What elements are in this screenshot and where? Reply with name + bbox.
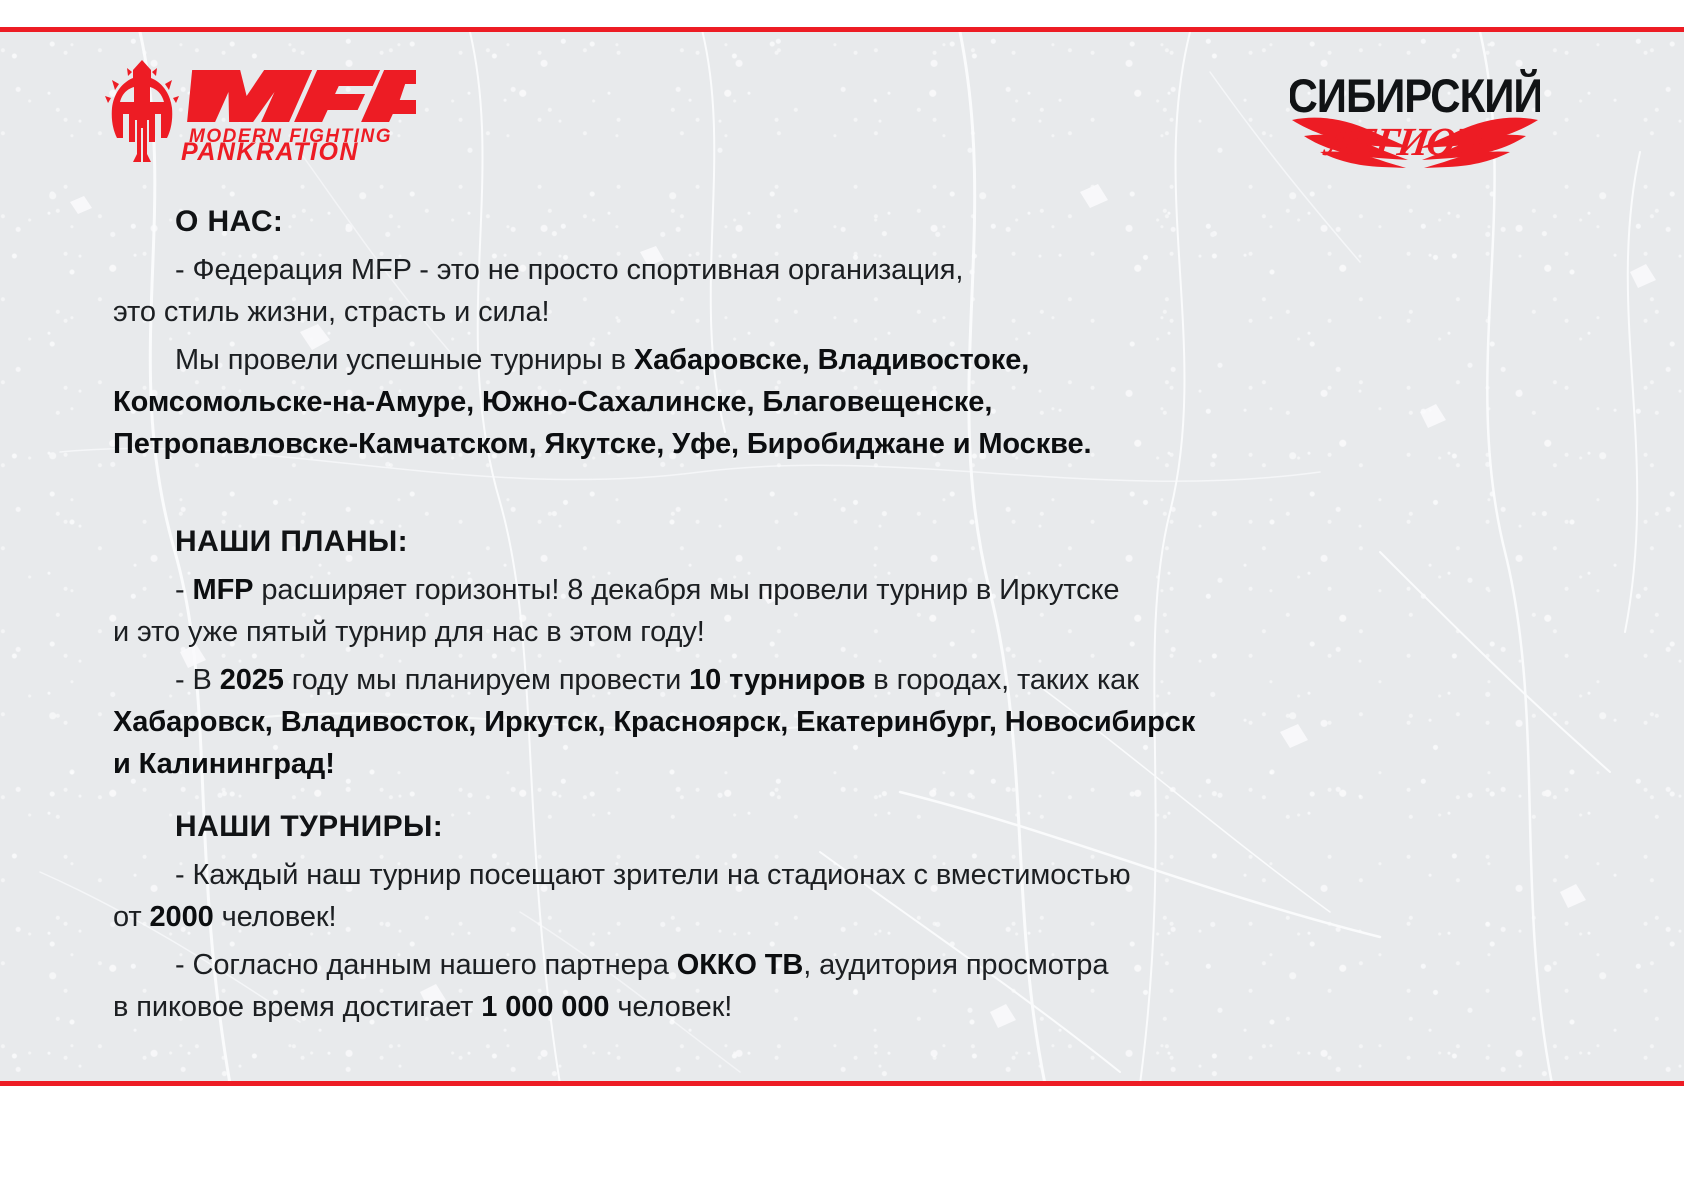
section-about: О НАС: - Федерация MFP - это не просто с… <box>113 205 1091 465</box>
section-plans: НАШИ ПЛАНЫ: - MFP расширяет горизонты! 8… <box>113 525 1195 785</box>
poster: MODERN FIGHTING PANKRATION СИБИРСКИЙ ЛЕГ… <box>0 0 1684 1191</box>
section-tournaments: НАШИ ТУРНИРЫ: - Каждый наш турнир посеща… <box>113 810 1131 1028</box>
paragraph-about-1: - Федерация MFP - это не просто спортивн… <box>113 249 1091 333</box>
paragraph-plans-2: - В 2025 году мы планируем провести 10 т… <box>113 659 1195 785</box>
section-title-tournaments: НАШИ ТУРНИРЫ: <box>175 810 1131 844</box>
paragraph-tournaments-2: - Согласно данным нашего партнера ОККО Т… <box>113 944 1131 1028</box>
section-title-about: О НАС: <box>175 205 1091 239</box>
paragraph-tournaments-1: - Каждый наш турнир посещают зрители на … <box>113 854 1131 938</box>
paragraph-plans-1: - MFP расширяет горизонты! 8 декабря мы … <box>113 569 1195 653</box>
paragraph-about-2: Мы провели успешные турниры в Хабаровске… <box>113 339 1091 465</box>
poster-body-text: О НАС: - Федерация MFP - это не просто с… <box>0 0 1684 1191</box>
section-title-plans: НАШИ ПЛАНЫ: <box>175 525 1195 559</box>
